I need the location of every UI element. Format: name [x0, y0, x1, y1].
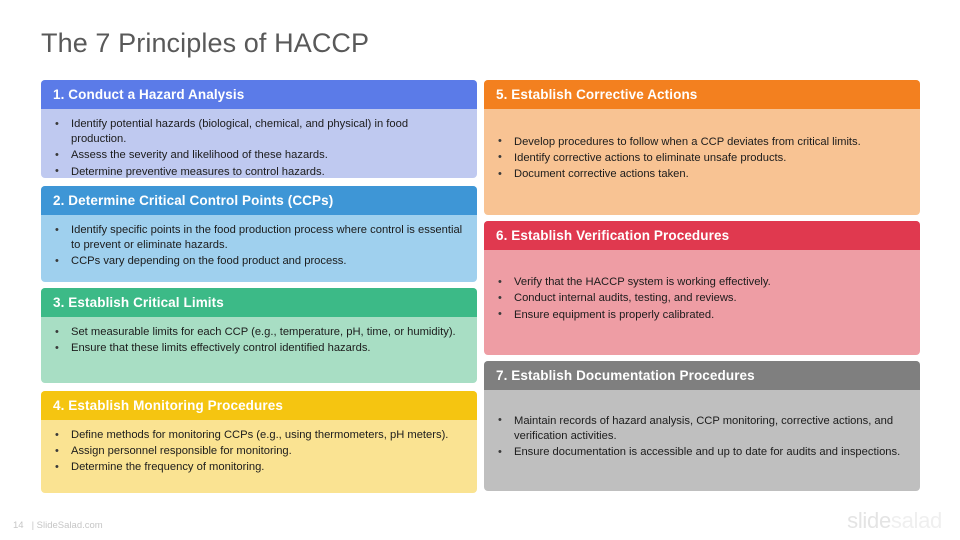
card-bullet-item: Ensure documentation is accessible and u…	[494, 445, 906, 460]
card-bullet-list: Set measurable limits for each CCP (e.g.…	[51, 325, 463, 357]
card-body: Verify that the HACCP system is working …	[484, 250, 920, 355]
card-header-title: 7. Establish Documentation Procedures	[484, 361, 920, 390]
card-bullet-item: Determine preventive measures to control…	[51, 165, 463, 178]
card-header-title: 5. Establish Corrective Actions	[484, 80, 920, 109]
card-bullet-item: Ensure equipment is properly calibrated.	[494, 308, 906, 323]
card-bullet-list: Identify specific points in the food pro…	[51, 223, 463, 271]
logo-part-salad: salad	[891, 508, 942, 533]
card-header-title: 1. Conduct a Hazard Analysis	[41, 80, 477, 109]
footer-source-label: | SlideSalad.com	[32, 520, 103, 531]
card-bullet-item: Maintain records of hazard analysis, CCP…	[494, 414, 906, 444]
card-body: Develop procedures to follow when a CCP …	[484, 109, 920, 215]
card-header-title: 3. Establish Critical Limits	[41, 288, 477, 317]
card-bullet-list: Develop procedures to follow when a CCP …	[494, 135, 906, 184]
slide-canvas: The 7 Principles of HACCP 1. Conduct a H…	[0, 0, 960, 540]
card-bullet-item: Conduct internal audits, testing, and re…	[494, 291, 906, 306]
card-bullet-item: Define methods for monitoring CCPs (e.g.…	[51, 428, 463, 443]
card-body: Set measurable limits for each CCP (e.g.…	[41, 317, 477, 383]
card-bullet-item: Determine the frequency of monitoring.	[51, 460, 463, 475]
card-bullet-item: CCPs vary depending on the food product …	[51, 254, 463, 269]
principle-card: 4. Establish Monitoring ProceduresDefine…	[41, 391, 477, 493]
card-header-title: 6. Establish Verification Procedures	[484, 221, 920, 250]
card-bullet-item: Assess the severity and likelihood of th…	[51, 148, 463, 163]
card-body: Identify potential hazards (biological, …	[41, 109, 477, 178]
card-bullet-item: Ensure that these limits effectively con…	[51, 341, 463, 356]
card-header-title: 2. Determine Critical Control Points (CC…	[41, 186, 477, 215]
principle-card: 2. Determine Critical Control Points (CC…	[41, 186, 477, 282]
card-bullet-item: Identify specific points in the food pro…	[51, 223, 463, 253]
principle-card: 3. Establish Critical LimitsSet measurab…	[41, 288, 477, 383]
card-bullet-item: Set measurable limits for each CCP (e.g.…	[51, 325, 463, 340]
footer-pagination: 14| SlideSalad.com	[13, 520, 103, 531]
principle-card: 5. Establish Corrective ActionsDevelop p…	[484, 80, 920, 215]
slidesalad-logo: slidesalad	[847, 508, 942, 534]
principle-card: 1. Conduct a Hazard AnalysisIdentify pot…	[41, 80, 477, 178]
logo-part-slide: slide	[847, 508, 891, 533]
card-bullet-item: Assign personnel responsible for monitor…	[51, 444, 463, 459]
card-bullet-list: Verify that the HACCP system is working …	[494, 275, 906, 324]
card-bullet-item: Document corrective actions taken.	[494, 167, 906, 182]
card-body: Define methods for monitoring CCPs (e.g.…	[41, 420, 477, 493]
page-number: 14	[13, 520, 24, 531]
card-body: Identify specific points in the food pro…	[41, 215, 477, 282]
card-body: Maintain records of hazard analysis, CCP…	[484, 390, 920, 491]
card-bullet-item: Identify potential hazards (biological, …	[51, 117, 463, 147]
card-bullet-item: Verify that the HACCP system is working …	[494, 275, 906, 290]
card-bullet-item: Develop procedures to follow when a CCP …	[494, 135, 906, 150]
card-bullet-list: Maintain records of hazard analysis, CCP…	[494, 414, 906, 462]
principle-card: 6. Establish Verification ProceduresVeri…	[484, 221, 920, 355]
principle-card: 7. Establish Documentation ProceduresMai…	[484, 361, 920, 491]
card-header-title: 4. Establish Monitoring Procedures	[41, 391, 477, 420]
card-bullet-item: Identify corrective actions to eliminate…	[494, 151, 906, 166]
card-bullet-list: Identify potential hazards (biological, …	[51, 117, 463, 178]
card-bullet-list: Define methods for monitoring CCPs (e.g.…	[51, 428, 463, 477]
page-title: The 7 Principles of HACCP	[41, 28, 369, 59]
